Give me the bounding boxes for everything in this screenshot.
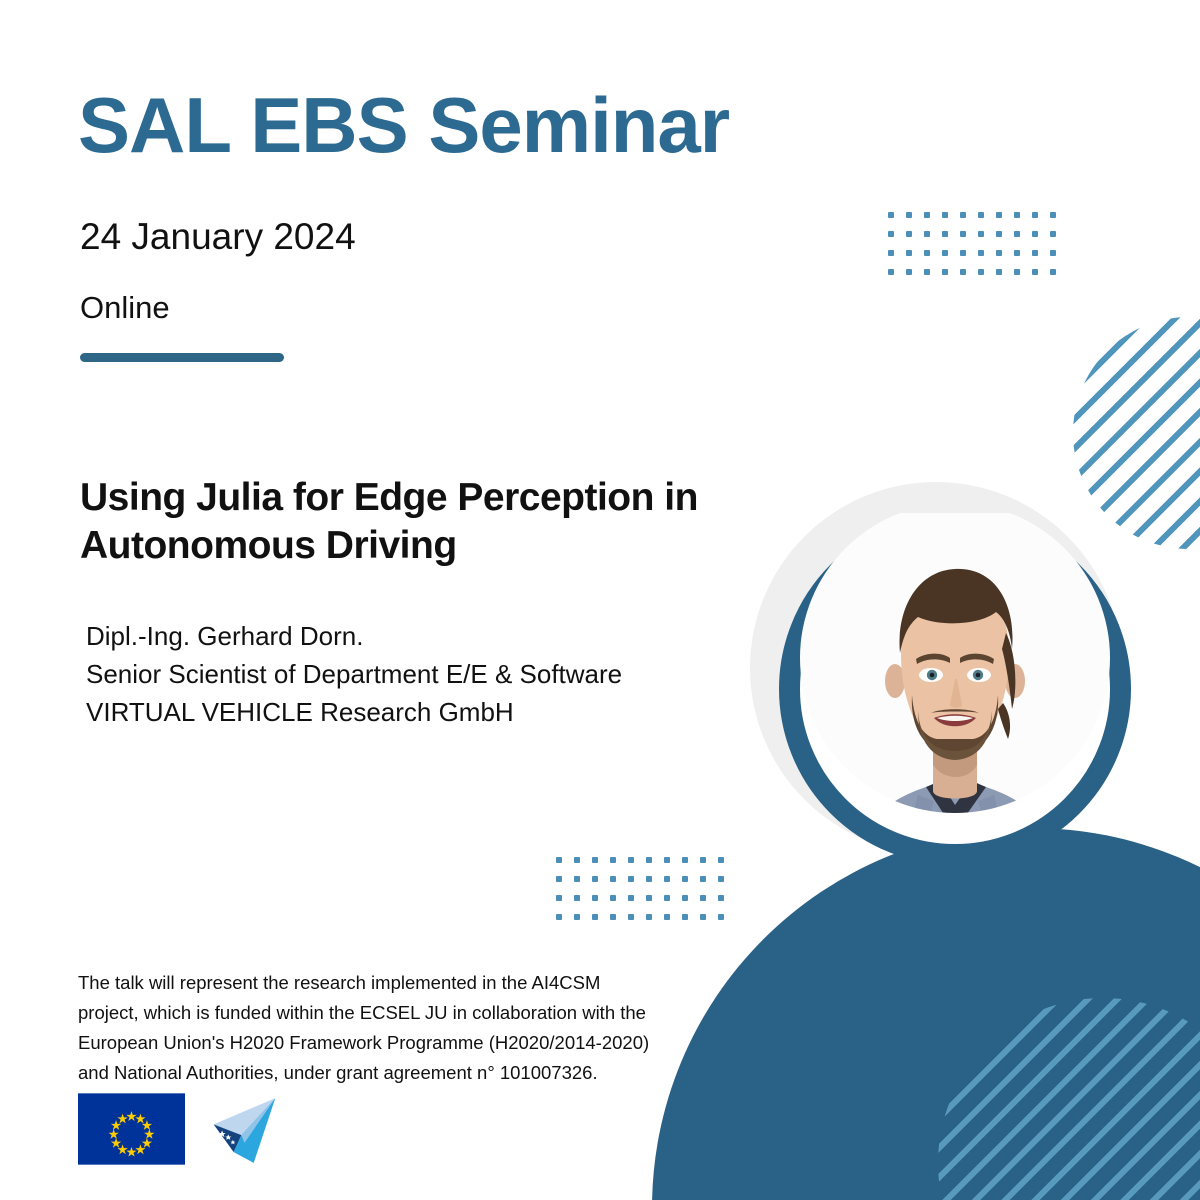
funding-note: The talk will represent the research imp…: [78, 968, 718, 1088]
divider-rule: [80, 353, 284, 362]
dot-grid-top-right-shape: [888, 212, 1068, 288]
talk-title: Using Julia for Edge Perception in Auton…: [80, 474, 850, 569]
speaker-name: Dipl.-Ing. Gerhard Dorn.: [86, 618, 786, 656]
funding-note-line-2: project, which is funded within the ECSE…: [78, 998, 718, 1028]
seminar-poster: SAL EBS Seminar 24 January 2024 Online U…: [0, 0, 1200, 1200]
speaker-details: Dipl.-Ing. Gerhard Dorn. Senior Scientis…: [86, 618, 786, 732]
funding-note-line-4: and National Authorities, under grant ag…: [78, 1058, 718, 1088]
speaker-organisation: VIRTUAL VEHICLE Research GmbH: [86, 694, 786, 732]
funding-note-line-1: The talk will represent the research imp…: [78, 968, 718, 998]
striped-circle-in-blob-shape: [938, 998, 1200, 1200]
european-union-flag-icon: [78, 1093, 185, 1165]
event-venue: Online: [80, 290, 170, 326]
event-date: 24 January 2024: [80, 216, 356, 258]
ecsel-ju-logo-icon: [207, 1092, 285, 1166]
speaker-role: Senior Scientist of Department E/E & Sof…: [86, 656, 786, 694]
logo-row: [78, 1087, 285, 1171]
dot-grid-bottom-left-shape: [556, 857, 736, 933]
page-title: SAL EBS Seminar: [78, 86, 729, 164]
funding-note-line-3: European Union's H2020 Framework Program…: [78, 1028, 718, 1058]
